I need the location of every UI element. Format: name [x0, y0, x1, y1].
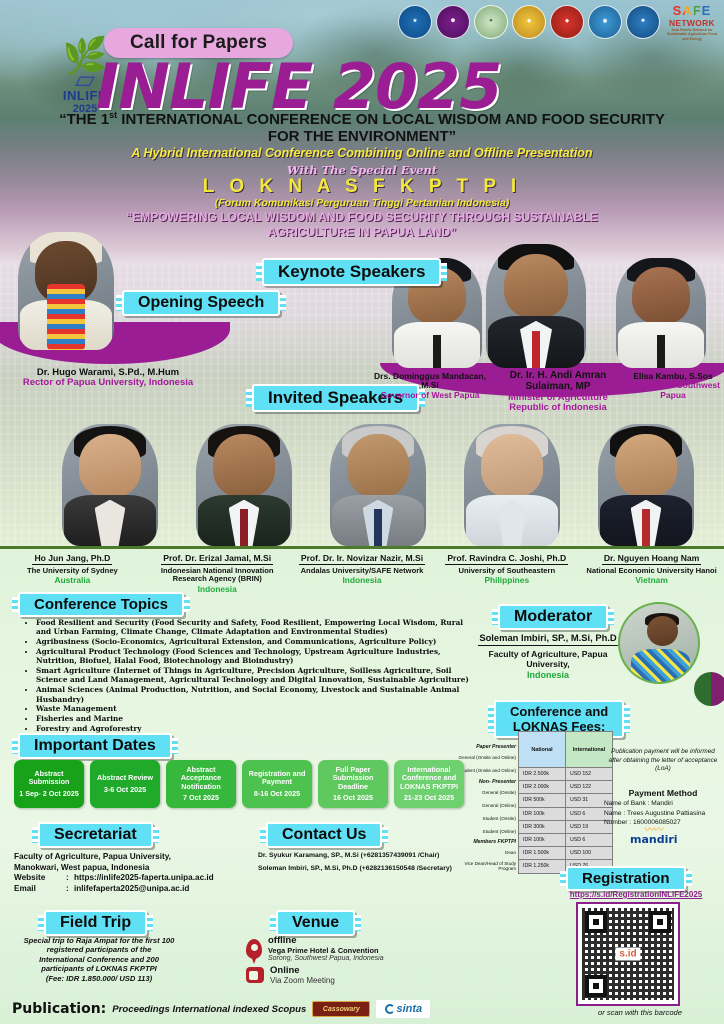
subtitle-line2: FOR THE ENVIRONMENT” — [268, 128, 456, 145]
table-row: IDR 2.500kUSD 152 — [519, 768, 613, 781]
safe-logo-line3: Asia Pacific Network for Sustainable Agr… — [664, 28, 720, 41]
fee-national: IDR 500k — [519, 794, 566, 807]
invited-speaker-photo-3 — [330, 424, 426, 546]
safe-logo-line2: NETWORK — [669, 18, 715, 28]
venue-online-row: Online Via Zoom Meeting — [246, 966, 466, 985]
sinta-circle-icon — [385, 1004, 395, 1014]
date-value: 1 Sep- 2 Oct 2025 — [16, 790, 82, 798]
decorative-circle — [694, 672, 724, 706]
unipa-crest: ❁ — [436, 5, 470, 39]
opening-speaker-role: Rector of Papua University, Indonesia — [0, 378, 216, 388]
invited-speaker-4: Prof. Ravindra C. Joshi, Ph.D University… — [434, 548, 579, 594]
keynote-caption-1: Drs. Dominggus Mandacan, M.Si Governor o… — [370, 372, 490, 400]
keynote-speaker-photo-3 — [616, 258, 706, 368]
papua-barat-daya-crest: ❖ — [626, 5, 660, 39]
special-event-note: With The Special Event — [0, 163, 724, 177]
fee-international: USD 6 — [566, 833, 613, 846]
topic-item: Food Resilient and Security (Food Securi… — [36, 618, 472, 637]
payment-number: Number : 1600006085027 — [604, 818, 724, 828]
contact-us-label: Contact Us — [266, 822, 382, 848]
location-pin-icon — [246, 939, 262, 959]
field-trip-line-5: (Fee: IDR 1.850.000/ USD 113) — [6, 974, 192, 983]
mandiri-bank-logo: 〰〰 mandiri — [630, 828, 678, 846]
topic-item: Fisheries and Marine — [36, 714, 472, 723]
invited-affiliation-4: University of Southeastern — [434, 567, 579, 575]
invited-country-3: Indonesia — [290, 575, 435, 585]
fees-row-label: Student (Onsite and Online) — [456, 765, 518, 778]
mandiri-wordmark: mandiri — [630, 833, 678, 846]
venue-offline-place: Vega Prime Hotel & Convention — [268, 946, 384, 955]
date-value: 21-23 Oct 2025 — [396, 794, 462, 802]
invited-speaker-photo-2 — [196, 424, 292, 546]
fees-group-3: Members FKPTPI — [456, 839, 518, 847]
kemendikbud-crest: ★ — [398, 5, 432, 39]
fees-row-label: Student (Onsite) — [456, 813, 518, 826]
venue-offline-title: offline — [268, 936, 384, 946]
fees-col-national: National — [519, 732, 566, 768]
table-row: IDR 100kUSD 6 — [519, 807, 613, 820]
field-trip-line-2: registered participants of the — [6, 945, 192, 954]
invited-speaker-5: Dr. Nguyen Hoang Nam National Economic U… — [579, 548, 724, 594]
date-card: International Conference and LOKNAS FKPT… — [394, 760, 464, 808]
keynote-caption-2: Dr. Ir. H. Andi Amran Sulaiman, MP Minis… — [490, 370, 626, 413]
date-card: Abstract Acceptance Notification 7 Oct 2… — [166, 760, 236, 808]
fees-table-wrap: Paper Presenter General (Onsite and Onli… — [456, 731, 613, 874]
website-value[interactable]: https://inlife2025-faperta.unipa.ac.id — [74, 873, 214, 884]
topic-item: Waste Management — [36, 704, 472, 713]
invited-speakers-list: Ho Jun Jang, Ph.D The University of Sydn… — [0, 548, 724, 594]
date-title: Full Paper Submission Deadline — [320, 766, 386, 791]
field-trip-line-4: participants of LOKNAS FKPTPI — [6, 964, 192, 973]
fee-national: IDR 300k — [519, 820, 566, 833]
invited-affiliation-2: Indonesian National Innovation Research … — [145, 567, 290, 584]
table-row: IDR 300kUSD 19 — [519, 820, 613, 833]
conference-subtitle: “THE 1st INTERNATIONAL CONFERENCE ON LOC… — [0, 110, 724, 146]
papua-crest: ◈ — [550, 5, 584, 39]
moderator-info: Soleman Imbiri, SP., M.Si, Ph.D Faculty … — [478, 632, 618, 680]
sinta-wordmark: sinta — [397, 1003, 423, 1015]
call-for-papers-badge: Call for Papers — [104, 28, 293, 58]
date-value: 8-16 Oct 2025 — [244, 790, 310, 798]
subtitle-part-b: INTERNATIONAL CONFERENCE ON LOCAL WISDOM… — [117, 111, 665, 128]
date-card: Full Paper Submission Deadline 16 Oct 20… — [318, 760, 388, 808]
invited-speaker-2: Prof. Dr. Erizal Jamal, M.Si Indonesian … — [145, 548, 290, 594]
conference-topics-label: Conference Topics — [18, 592, 184, 617]
website-key: Website — [14, 873, 66, 884]
payment-bank: Name of Bank : Mandiri — [604, 799, 724, 809]
date-value: 7 Oct 2025 — [168, 794, 234, 802]
email-value[interactable]: inlifefaperta2025@unipa.ac.id — [74, 884, 189, 895]
fee-national: IDR 1.500k — [519, 847, 566, 860]
loknas-expansion: (Forum Komunikasi Perguruan Tinggi Perta… — [0, 197, 724, 209]
venue-details: offline Vega Prime Hotel & Convention So… — [246, 936, 466, 989]
fees-label-line1: Conference and — [510, 704, 608, 719]
secretariat-address-2: Manokwari, West papua, Indonesia — [14, 863, 284, 874]
fees-header-row: National International — [519, 732, 613, 768]
field-trip-line-1: Special trip to Raja Ampat for the first… — [6, 936, 192, 945]
registration-qr-code[interactable]: s.id — [576, 902, 680, 1006]
date-title: International Conference and LOKNAS FKPT… — [396, 766, 462, 791]
invited-speaker-photo-5 — [598, 424, 694, 546]
invited-name-2: Prof. Dr. Erizal Jamal, M.Si — [161, 553, 273, 565]
fee-national: IDR 2.500k — [519, 768, 566, 781]
keynote-caption-3: Elisa Kambu, S.Sos Governor of Southwest… — [622, 372, 724, 400]
loknas-title: L O K N A S F K P T P I — [0, 176, 724, 198]
venue-online-detail: Via Zoom Meeting — [270, 976, 335, 985]
moderator-name: Soleman Imbiri, SP., M.Si, Ph.D — [478, 632, 618, 646]
important-dates-label: Important Dates — [18, 733, 172, 759]
keynote-name-2: Dr. Ir. H. Andi Amran Sulaiman, MP — [490, 370, 626, 392]
publication-payment-note: Publication payment will be informed aft… — [604, 748, 722, 774]
invited-country-1: Australia — [0, 575, 145, 585]
invited-name-3: Prof. Dr. Ir. Novizar Nazir, M.Si — [299, 553, 425, 565]
subtitle-ordinal: st — [109, 110, 117, 120]
keynote-role-3: Governor of Southwest Papua — [622, 381, 724, 400]
opening-speech-label: Opening Speech — [122, 290, 280, 316]
invited-speaker-photo-4 — [464, 424, 560, 546]
fee-international: USD 100 — [566, 847, 613, 860]
publication-text: Proceedings International indexed Scopus — [112, 1004, 306, 1015]
secretariat-details: Faculty of Agriculture, Papua University… — [14, 852, 284, 895]
fees-group-2: Non- Presenter — [456, 778, 518, 786]
secretariat-label: Secretariat — [38, 822, 153, 848]
fee-national: IDR 100k — [519, 833, 566, 846]
invited-affiliation-1: The University of Sydney — [0, 567, 145, 575]
secretariat-address-1: Faculty of Agriculture, Papua University… — [14, 852, 284, 863]
payment-name: Name : Trees Augustine Pattiasina — [604, 809, 724, 819]
safe-network-logo: SAFE NETWORK Asia Pacific Network for Su… — [664, 2, 720, 42]
cassowary-journal-logo: Cassowary — [312, 1001, 370, 1017]
sinta-logo: sinta — [376, 1000, 430, 1018]
date-card: Abstract Submission 1 Sep- 2 Oct 2025 — [14, 760, 84, 808]
contact-person: Soleman Imbiri, SP., M.Si, Ph.D (+628213… — [258, 863, 468, 876]
fees-group-1: Paper Presenter — [456, 744, 518, 752]
venue-label: Venue — [276, 910, 355, 936]
table-row: IDR 100kUSD 6 — [519, 833, 613, 846]
topic-item: Animal Sciences (Animal Production, Nutr… — [36, 685, 472, 704]
email-sep: : — [66, 884, 74, 895]
hybrid-note: A Hybrid International Conference Combin… — [0, 146, 724, 160]
date-title: Abstract Review — [92, 774, 158, 782]
payment-method-title: Payment Method — [604, 788, 722, 798]
venue-offline-row: offline Vega Prime Hotel & Convention So… — [246, 936, 466, 962]
invited-speaker-photo-1 — [62, 424, 158, 546]
safe-logo-line1: SAFE — [673, 3, 712, 18]
theme-line2: AGRICULTURE IN PAPUA LAND” — [268, 225, 456, 239]
date-card: Registration and Payment 8-16 Oct 2025 — [242, 760, 312, 808]
opening-speaker-caption: Dr. Hugo Warami, S.Pd., M.Hum Rector of … — [0, 368, 216, 389]
date-value: 16 Oct 2025 — [320, 794, 386, 802]
topic-item: Agribusiness (Socio-Economics, Agricultu… — [36, 637, 472, 646]
email-key: Email — [14, 884, 66, 895]
papua-barat-crest: ◆ — [512, 5, 546, 39]
date-value: 3-6 Oct 2025 — [92, 786, 158, 794]
invited-country-5: Vietnam — [579, 575, 724, 585]
invited-name-5: Dr. Nguyen Hoang Nam — [602, 553, 702, 565]
zoom-video-icon — [246, 967, 264, 983]
invited-name-1: Ho Jun Jang, Ph.D — [32, 553, 112, 565]
conference-theme: “EMPOWERING LOCAL WISDOM AND FOOD SECURI… — [0, 210, 724, 240]
moderator-label: Moderator — [498, 604, 608, 630]
fee-national: IDR 100k — [519, 807, 566, 820]
table-row: IDR 2.000kUSD 122 — [519, 781, 613, 794]
invited-affiliation-3: Andalas University/SAFE Network — [290, 567, 435, 575]
moderator-photo — [618, 602, 700, 684]
fees-row-label: General (Online) — [456, 800, 518, 813]
table-row: IDR 1.500kUSD 100 — [519, 847, 613, 860]
invited-affiliation-5: National Economic University Hanoi — [579, 567, 724, 575]
keynote-speaker-photo-2 — [486, 244, 586, 368]
venue-online-title: Online — [270, 966, 335, 976]
contact-person: Dr. Syukur Karamang, SP., M.Si (+6281357… — [258, 850, 468, 863]
secretariat-email-row: Email : inlifefaperta2025@unipa.ac.id — [14, 884, 284, 895]
date-card: Abstract Review 3-6 Oct 2025 — [90, 760, 160, 808]
field-trip-label: Field Trip — [44, 910, 147, 936]
topic-item: Agricultural Product Technology (Food Sc… — [36, 647, 472, 666]
institution-logos: ★ ❁ ✦ ◆ ◈ ◉ ❖ SAFE NETWORK Asia Pacific … — [398, 2, 720, 42]
theme-line1: “EMPOWERING LOCAL WISDOM AND FOOD SECURI… — [126, 210, 598, 224]
fee-national: IDR 1.250k — [519, 860, 566, 873]
secretariat-website-row: Website : https://inlife2025-faperta.uni… — [14, 873, 284, 884]
payment-details: Name of Bank : Mandiri Name : Trees Augu… — [604, 799, 724, 828]
qr-finder-icon — [649, 911, 671, 933]
registration-label: Registration — [566, 866, 686, 891]
publication-bar: Publication: Proceedings International i… — [0, 994, 724, 1024]
conference-topics-list: Food Resilient and Security (Food Securi… — [22, 618, 472, 734]
table-row: IDR 500kUSD 31 — [519, 794, 613, 807]
contact-details: Dr. Syukur Karamang, SP., M.Si (+6281357… — [258, 850, 468, 876]
date-title: Registration and Payment — [244, 770, 310, 787]
fees-row-label: General (Onsite and Online) — [456, 752, 518, 765]
fkptpi-crest: ✦ — [474, 5, 508, 39]
conference-poster: ★ ❁ ✦ ◆ ◈ ◉ ❖ SAFE NETWORK Asia Pacific … — [0, 0, 724, 1024]
field-trip-details: Special trip to Raja Ampat for the first… — [6, 936, 192, 983]
keynote-name-1: Drs. Dominggus Mandacan, M.Si — [370, 372, 490, 391]
registration-url[interactable]: https://s.id/RegistrationINLIFE2025 — [548, 890, 724, 899]
keynote-speakers-label: Keynote Speakers — [262, 258, 441, 286]
keynote-role-1: Governor of West Papua — [370, 391, 490, 400]
subtitle-part-a: “THE 1 — [59, 111, 109, 128]
field-trip-line-3: International Conference and 200 — [6, 955, 192, 964]
papua-tengah-crest: ◉ — [588, 5, 622, 39]
moderator-country: Indonesia — [478, 670, 618, 680]
fees-row-label: Student (Online) — [456, 826, 518, 839]
publication-label: Publication: — [12, 1001, 106, 1017]
date-title: Abstract Acceptance Notification — [168, 766, 234, 791]
website-sep: : — [66, 873, 74, 884]
fees-table: National International IDR 2.500kUSD 152… — [518, 731, 613, 874]
keynote-role-2: Minister of Agriculture Republic of Indo… — [490, 392, 626, 413]
date-title: Abstract Submission — [16, 770, 82, 787]
invited-country-4: Philippines — [434, 575, 579, 585]
topic-item: Smart Agriculture (Internet of Things in… — [36, 666, 472, 685]
fee-national: IDR 2.000k — [519, 781, 566, 794]
venue-offline-city: Sorong, Southwest Papua, Indonesia — [268, 955, 384, 962]
invited-speaker-1: Ho Jun Jang, Ph.D The University of Sydn… — [0, 548, 145, 594]
opening-speaker-photo — [18, 232, 114, 350]
qr-brand-label: s.id — [615, 948, 640, 961]
qr-finder-icon — [585, 911, 607, 933]
fees-row-label: General (Onsite) — [456, 786, 518, 799]
invited-speaker-3: Prof. Dr. Ir. Novizar Nazir, M.Si Andala… — [290, 548, 435, 594]
moderator-affiliation: Faculty of Agriculture, Papua University… — [478, 650, 618, 670]
invited-name-4: Prof. Ravindra C. Joshi, Ph.D — [445, 553, 568, 565]
important-dates-list: Abstract Submission 1 Sep- 2 Oct 2025 Ab… — [14, 760, 464, 808]
